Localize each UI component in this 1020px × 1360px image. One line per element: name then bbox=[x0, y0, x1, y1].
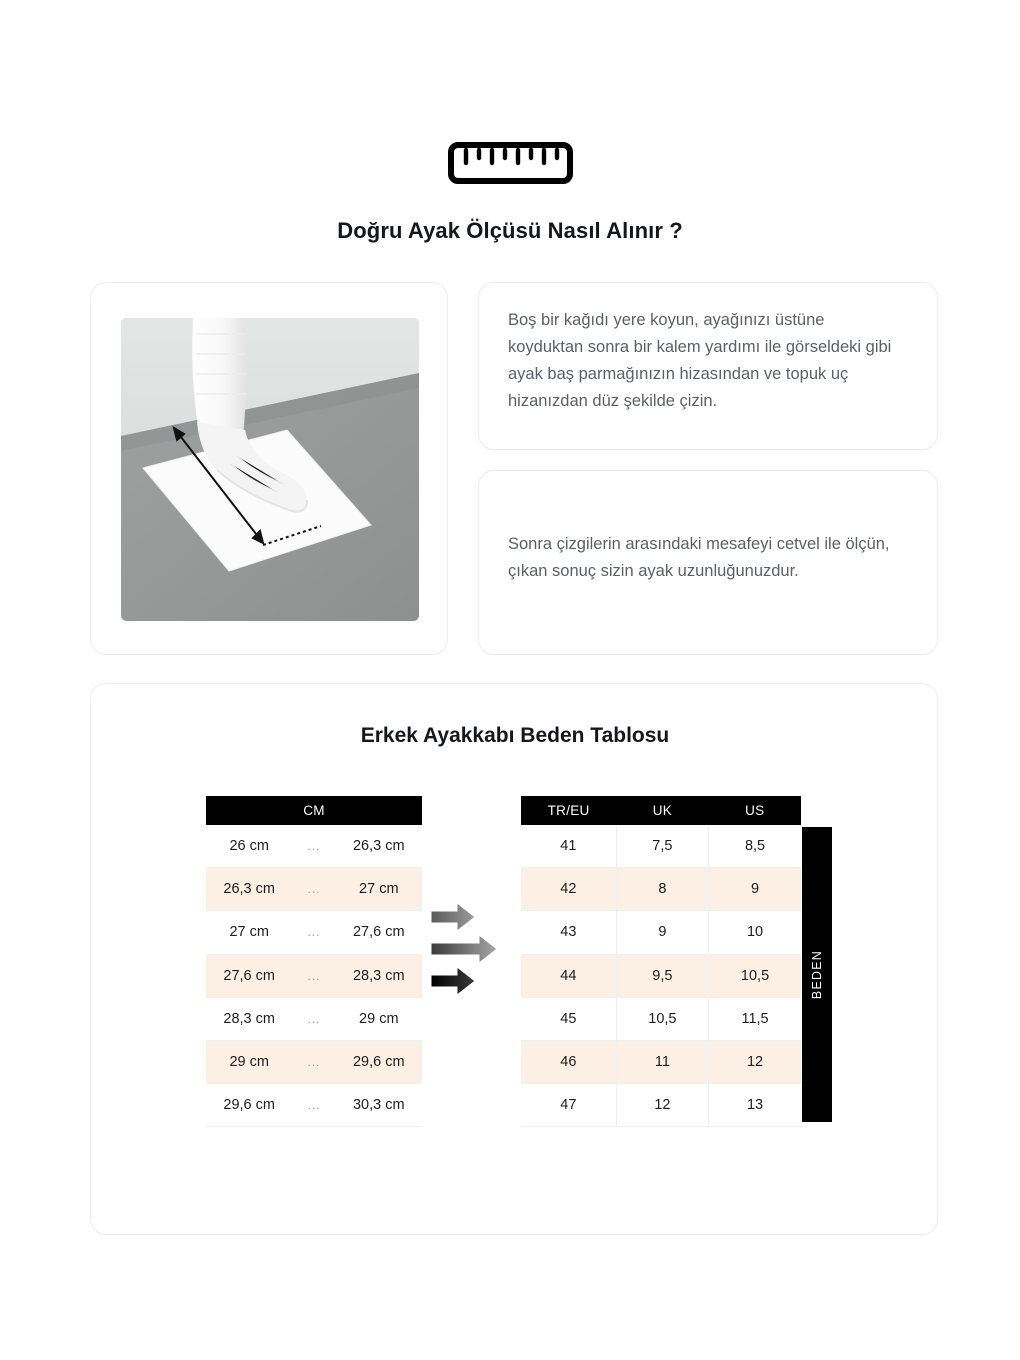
cm-low: 26,3 cm bbox=[206, 868, 292, 911]
cm-high: 27 cm bbox=[336, 868, 422, 911]
cell-us: 12 bbox=[709, 1040, 801, 1083]
cell-uk: 12 bbox=[616, 1084, 708, 1127]
cm-low: 29 cm bbox=[206, 1040, 292, 1083]
cm-table: CM 26 cm ... 26,3 cm 26,3 cm ... 27 cm 2… bbox=[206, 796, 422, 1127]
cell-tr-eu: 47 bbox=[521, 1084, 616, 1127]
table-row: 41 7,5 8,5 bbox=[521, 825, 801, 868]
instruction-card-2: Sonra çizgilerin arasındaki mesafeyi cet… bbox=[478, 470, 938, 655]
beden-label-text: BEDEN bbox=[810, 950, 824, 999]
table-row: 45 10,5 11,5 bbox=[521, 997, 801, 1040]
ruler-icon-container bbox=[0, 142, 1020, 189]
cm-low: 29,6 cm bbox=[206, 1084, 292, 1127]
header-uk: UK bbox=[616, 796, 708, 825]
header-us: US bbox=[709, 796, 801, 825]
table-row: 26,3 cm ... 27 cm bbox=[206, 868, 422, 911]
instruction-text-1: Boş bir kağıdı yere koyun, ayağınızı üst… bbox=[508, 307, 898, 415]
cm-sep: ... bbox=[292, 911, 335, 954]
beden-side-label: BEDEN bbox=[802, 827, 832, 1122]
cm-low: 27 cm bbox=[206, 911, 292, 954]
ruler-icon bbox=[448, 142, 573, 189]
instruction-photo-card bbox=[90, 282, 448, 655]
table-row: 27 cm ... 27,6 cm bbox=[206, 911, 422, 954]
cm-high: 30,3 cm bbox=[336, 1084, 422, 1127]
size-table-card: Erkek Ayakkabı Beden Tablosu CM 26 cm ..… bbox=[90, 683, 938, 1235]
cell-uk: 9 bbox=[616, 911, 708, 954]
table-row: 47 12 13 bbox=[521, 1084, 801, 1127]
cm-sep: ... bbox=[292, 997, 335, 1040]
cm-low: 27,6 cm bbox=[206, 954, 292, 997]
cm-sep: ... bbox=[292, 954, 335, 997]
cell-tr-eu: 45 bbox=[521, 997, 616, 1040]
instruction-card-1: Boş bir kağıdı yere koyun, ayağınızı üst… bbox=[478, 282, 938, 450]
cm-high: 29,6 cm bbox=[336, 1040, 422, 1083]
cm-sep: ... bbox=[292, 1040, 335, 1083]
cell-tr-eu: 43 bbox=[521, 911, 616, 954]
table-row: 44 9,5 10,5 bbox=[521, 954, 801, 997]
cell-uk: 7,5 bbox=[616, 825, 708, 868]
cell-us: 11,5 bbox=[709, 997, 801, 1040]
cm-high: 29 cm bbox=[336, 997, 422, 1040]
arrow-right-icon bbox=[431, 903, 475, 931]
cm-table-header-row: CM bbox=[206, 796, 422, 825]
table-row: 29 cm ... 29,6 cm bbox=[206, 1040, 422, 1083]
cm-sep: ... bbox=[292, 1084, 335, 1127]
cell-tr-eu: 46 bbox=[521, 1040, 616, 1083]
cell-us: 8,5 bbox=[709, 825, 801, 868]
cm-low: 28,3 cm bbox=[206, 997, 292, 1040]
size-conversion-table: TR/EU UK US 41 7,5 8,5 42 8 9 43 9 10 bbox=[521, 796, 801, 1127]
cm-high: 28,3 cm bbox=[336, 954, 422, 997]
size-table-header-row: TR/EU UK US bbox=[521, 796, 801, 825]
arrow-right-icon bbox=[431, 967, 475, 995]
table-row: 43 9 10 bbox=[521, 911, 801, 954]
size-table-title: Erkek Ayakkabı Beden Tablosu bbox=[91, 724, 939, 748]
page-title: Doğru Ayak Ölçüsü Nasıl Alınır ? bbox=[0, 218, 1020, 244]
cell-us: 10,5 bbox=[709, 954, 801, 997]
cell-uk: 11 bbox=[616, 1040, 708, 1083]
table-row: 29,6 cm ... 30,3 cm bbox=[206, 1084, 422, 1127]
cm-sep: ... bbox=[292, 825, 335, 868]
foot-measure-photo bbox=[121, 318, 419, 621]
cm-header-cell: CM bbox=[206, 796, 422, 825]
cell-us: 10 bbox=[709, 911, 801, 954]
cm-low: 26 cm bbox=[206, 825, 292, 868]
table-row: 27,6 cm ... 28,3 cm bbox=[206, 954, 422, 997]
conversion-arrows bbox=[427, 899, 519, 999]
cell-uk: 9,5 bbox=[616, 954, 708, 997]
table-row: 42 8 9 bbox=[521, 868, 801, 911]
cm-sep: ... bbox=[292, 868, 335, 911]
cell-tr-eu: 42 bbox=[521, 868, 616, 911]
instruction-text-2: Sonra çizgilerin arasındaki mesafeyi cet… bbox=[508, 531, 898, 585]
cell-us: 9 bbox=[709, 868, 801, 911]
cm-table-body: 26 cm ... 26,3 cm 26,3 cm ... 27 cm 27 c… bbox=[206, 825, 422, 1127]
table-row: 28,3 cm ... 29 cm bbox=[206, 997, 422, 1040]
arrow-right-icon bbox=[431, 935, 497, 963]
table-row: 26 cm ... 26,3 cm bbox=[206, 825, 422, 868]
cell-us: 13 bbox=[709, 1084, 801, 1127]
table-row: 46 11 12 bbox=[521, 1040, 801, 1083]
cell-tr-eu: 41 bbox=[521, 825, 616, 868]
cell-uk: 10,5 bbox=[616, 997, 708, 1040]
cell-uk: 8 bbox=[616, 868, 708, 911]
cm-high: 27,6 cm bbox=[336, 911, 422, 954]
header-tr-eu: TR/EU bbox=[521, 796, 616, 825]
cm-high: 26,3 cm bbox=[336, 825, 422, 868]
size-table-body: 41 7,5 8,5 42 8 9 43 9 10 44 9,5 10,5 45 bbox=[521, 825, 801, 1127]
cell-tr-eu: 44 bbox=[521, 954, 616, 997]
